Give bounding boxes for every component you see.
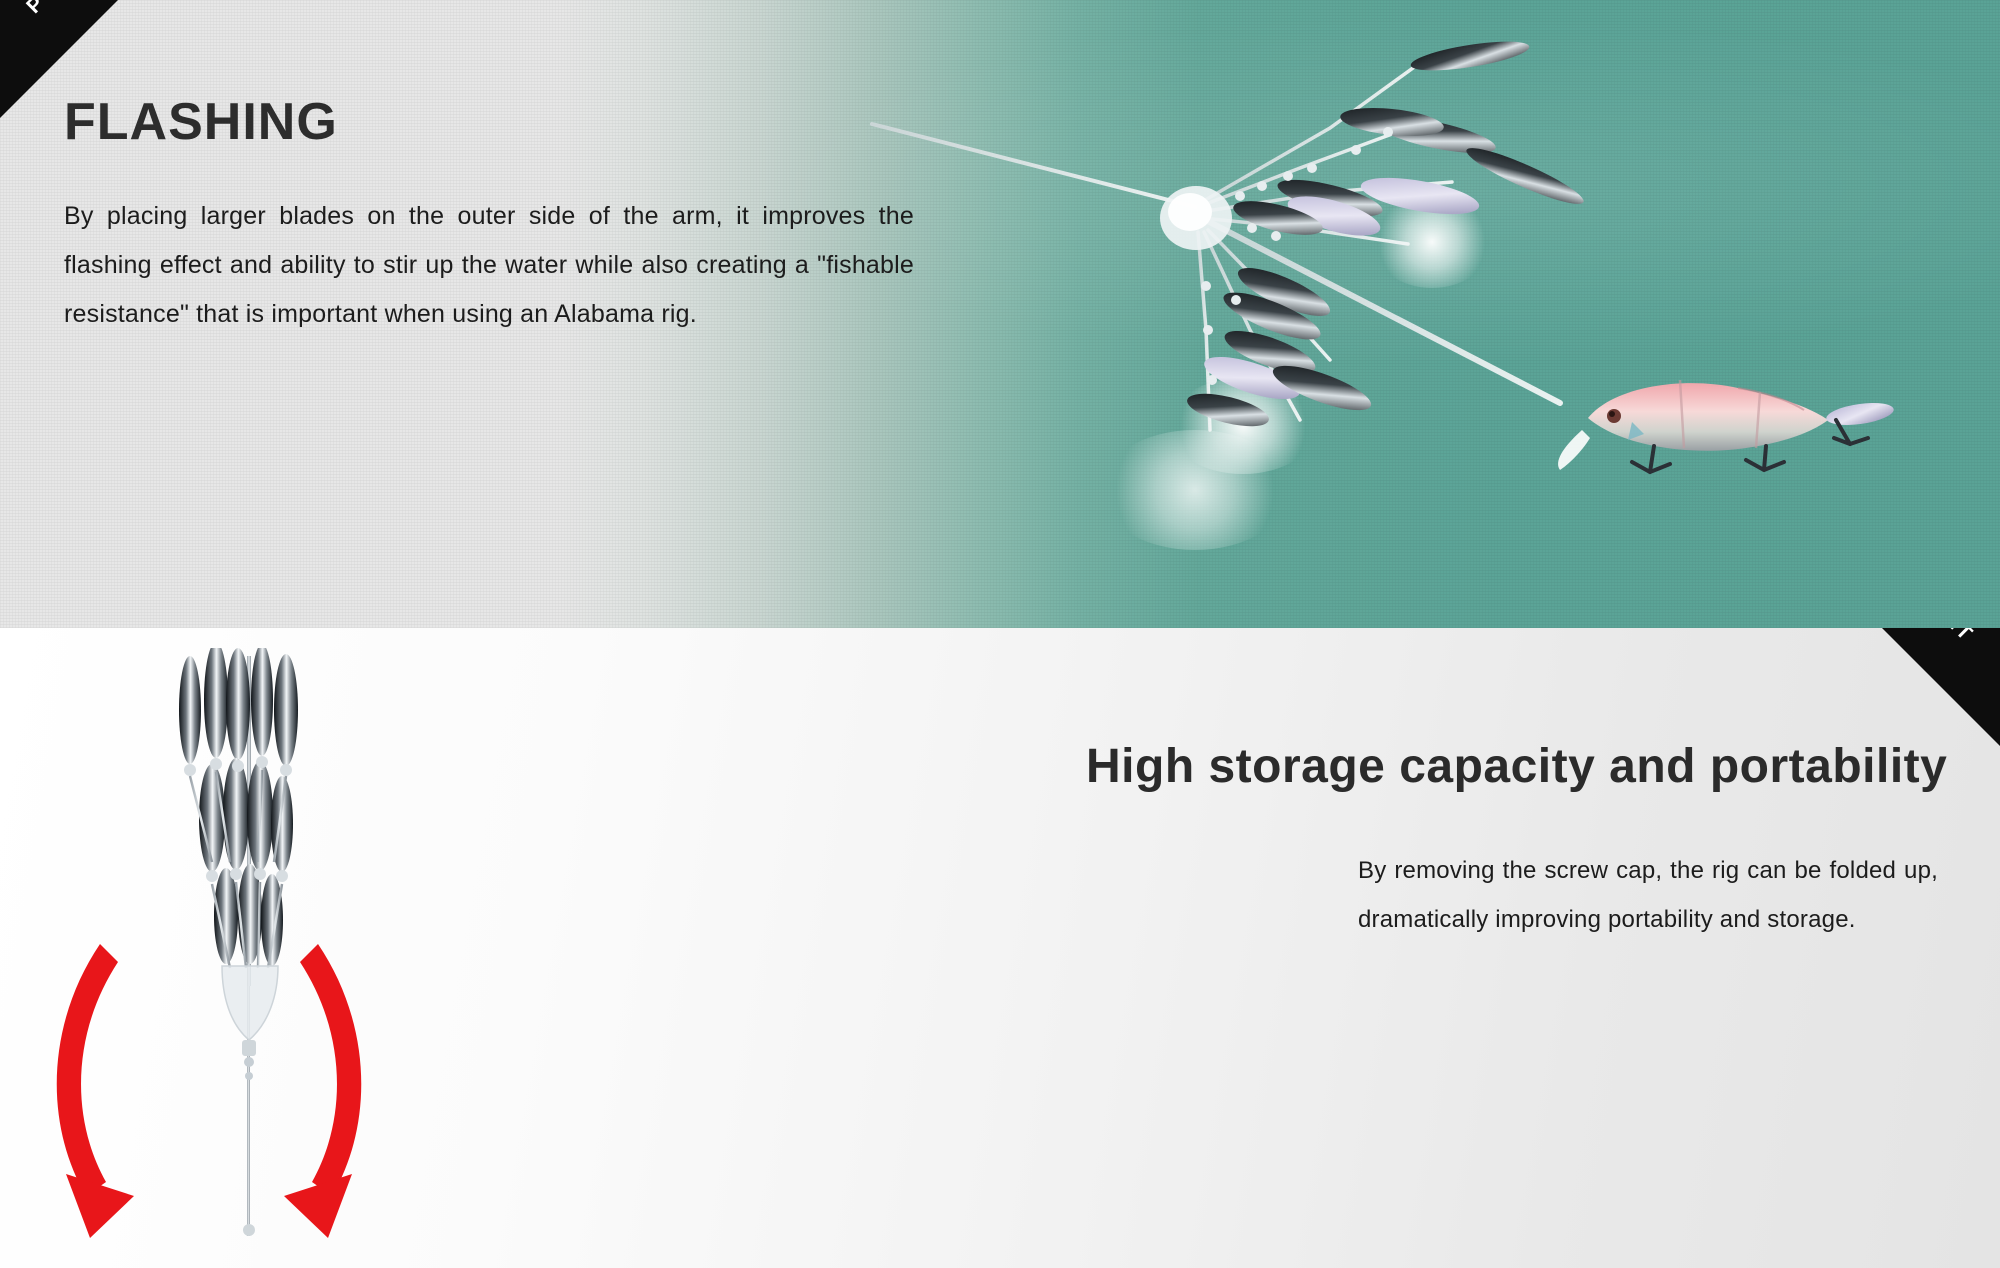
flashing-body-text: By placing larger blades on the outer si… <box>64 192 914 339</box>
storage-body-text: By removing the screw cap, the rig can b… <box>1358 846 1938 944</box>
flashing-heading: FLASHING <box>64 96 914 148</box>
flashing-text-block: FLASHING By placing larger blades on the… <box>64 96 914 339</box>
storage-text-block: High storage capacity and portability By… <box>1086 742 1938 944</box>
curved-arrow-left-icon <box>57 944 134 1238</box>
section-storage: POINT <box>0 628 2000 1268</box>
fold-arrows-group <box>40 928 380 1248</box>
storage-heading: High storage capacity and portability <box>1086 742 1938 792</box>
curved-arrow-right-icon <box>284 944 361 1238</box>
section-flashing: POINT FLASHING By placing larger blades … <box>0 0 2000 628</box>
product-feature-page: POINT FLASHING By placing larger blades … <box>0 0 2000 1268</box>
